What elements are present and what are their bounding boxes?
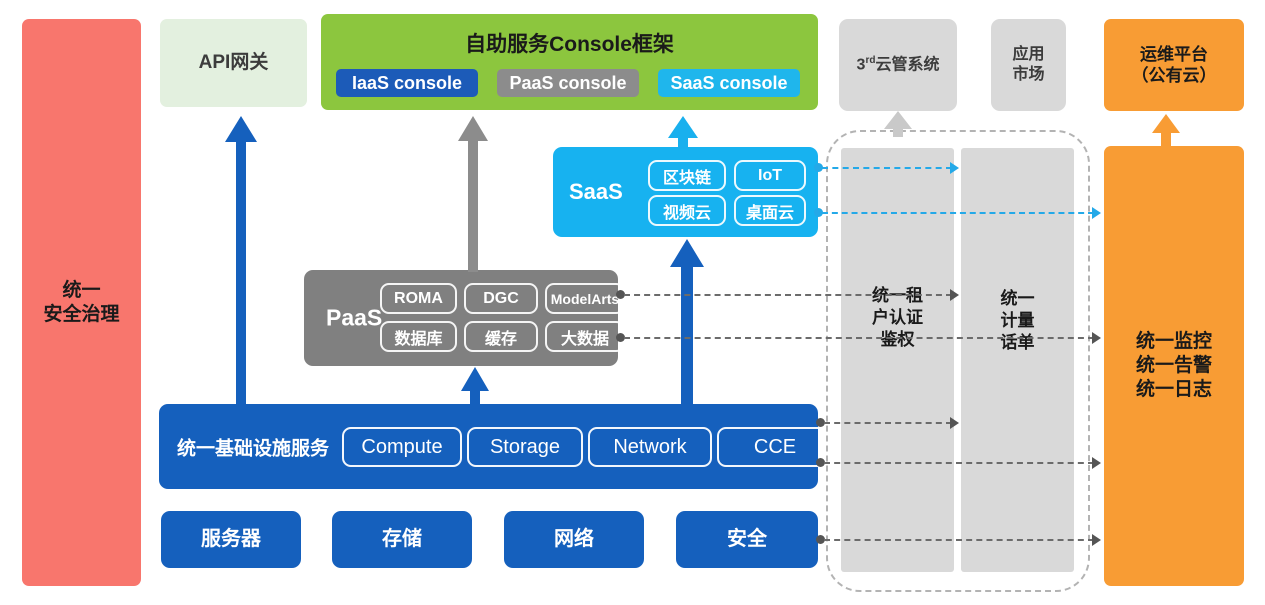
connector-arrowhead-paas-ops: [1092, 332, 1101, 344]
architecture-diagram: 统一安全治理 API网关 自助服务Console框架 IaaS console …: [0, 0, 1265, 605]
console-framework-title: 自助服务Console框架: [321, 28, 818, 58]
infra-item-storage[interactable]: Storage: [467, 427, 583, 467]
connector-arrowhead-saas-ops: [1092, 207, 1101, 219]
ops-platform-box: 运维平台（公有云）: [1104, 19, 1244, 111]
saas-item-video-cloud[interactable]: 视频云: [648, 195, 726, 226]
api-gateway-box: API网关: [160, 19, 307, 107]
connector-line-saas-auth: [822, 167, 952, 169]
infra-item-network[interactable]: Network: [588, 427, 712, 467]
connector-line-paas-ops: [624, 337, 1094, 339]
app-market-label: 应用市场: [1012, 45, 1044, 85]
connector-line-infra-auth: [824, 422, 952, 424]
saas-block: SaaS 区块链 IoT 视频云 桌面云: [553, 147, 818, 237]
arrow-infra-to-saas: [670, 239, 705, 406]
arrow-ops-panel-to-ops-platform: [1152, 114, 1181, 147]
connector-line-paas-auth: [624, 294, 952, 296]
app-market-box: 应用市场: [991, 19, 1066, 111]
paas-block-label: PaaS: [326, 305, 382, 332]
connector-line-saas-ops: [822, 212, 1094, 214]
resource-box-security[interactable]: 安全: [676, 511, 818, 568]
arrow-saas-to-console: [668, 116, 699, 149]
resource-box-storage[interactable]: 存储: [332, 511, 472, 568]
connector-arrowhead-saas-auth: [950, 162, 959, 174]
connector-line-infra-ops: [824, 462, 1094, 464]
paas-block: PaaS ROMA DGC ModelArts 数据库 缓存 大数据: [304, 270, 618, 366]
console-framework-box: 自助服务Console框架 IaaS console PaaS console …: [321, 14, 818, 110]
ops-platform-label: 运维平台（公有云）: [1132, 44, 1217, 87]
unified-monitoring-panel: 统一监控统一告警统一日志: [1104, 146, 1244, 586]
saas-item-iot[interactable]: IoT: [734, 160, 806, 191]
third-party-cloud-mgmt-label: 3rd云管系统: [857, 55, 940, 75]
saas-console-tag[interactable]: SaaS console: [658, 69, 800, 97]
paas-item-cache[interactable]: 缓存: [464, 321, 538, 352]
unified-security-governance-label: 统一安全治理: [43, 279, 119, 327]
arrow-shared-to-third-party-cloud: [884, 111, 913, 137]
connector-arrowhead-paas-auth: [950, 289, 959, 301]
paas-item-roma[interactable]: ROMA: [380, 283, 457, 314]
paas-item-dgc[interactable]: DGC: [464, 283, 538, 314]
iaas-console-tag[interactable]: IaaS console: [336, 69, 478, 97]
connector-arrowhead-infra-auth: [950, 417, 959, 429]
unified-infrastructure-label: 统一基础设施服务: [177, 433, 329, 460]
paas-item-database[interactable]: 数据库: [380, 321, 457, 352]
saas-block-label: SaaS: [569, 179, 623, 205]
infra-item-compute[interactable]: Compute: [342, 427, 462, 467]
connector-arrowhead-infra-ops: [1092, 457, 1101, 469]
third-party-cloud-mgmt-box: 3rd云管系统: [839, 19, 957, 111]
saas-item-desktop-cloud[interactable]: 桌面云: [734, 195, 806, 226]
paas-console-tag[interactable]: PaaS console: [497, 69, 639, 97]
paas-item-modelarts[interactable]: ModelArts: [545, 283, 625, 314]
api-gateway-label: API网关: [199, 51, 269, 75]
paas-item-bigdata[interactable]: 大数据: [545, 321, 625, 352]
unified-security-governance-panel: 统一安全治理: [22, 19, 141, 586]
connector-line-resources-ops: [824, 539, 1094, 541]
resource-box-network[interactable]: 网络: [504, 511, 644, 568]
saas-item-blockchain[interactable]: 区块链: [648, 160, 726, 191]
arrow-infra-to-api-gateway: [225, 116, 258, 408]
shared-service-column-billing-label: 统一计量话单: [961, 288, 1074, 354]
arrow-infra-to-paas: [461, 367, 490, 406]
unified-monitoring-label: 统一监控统一告警统一日志: [1136, 330, 1212, 401]
unified-infrastructure-bar: 统一基础设施服务 Compute Storage Network CCE: [159, 404, 818, 489]
connector-arrowhead-resources-ops: [1092, 534, 1101, 546]
resource-box-server[interactable]: 服务器: [161, 511, 301, 568]
arrow-paas-to-console: [458, 116, 489, 272]
